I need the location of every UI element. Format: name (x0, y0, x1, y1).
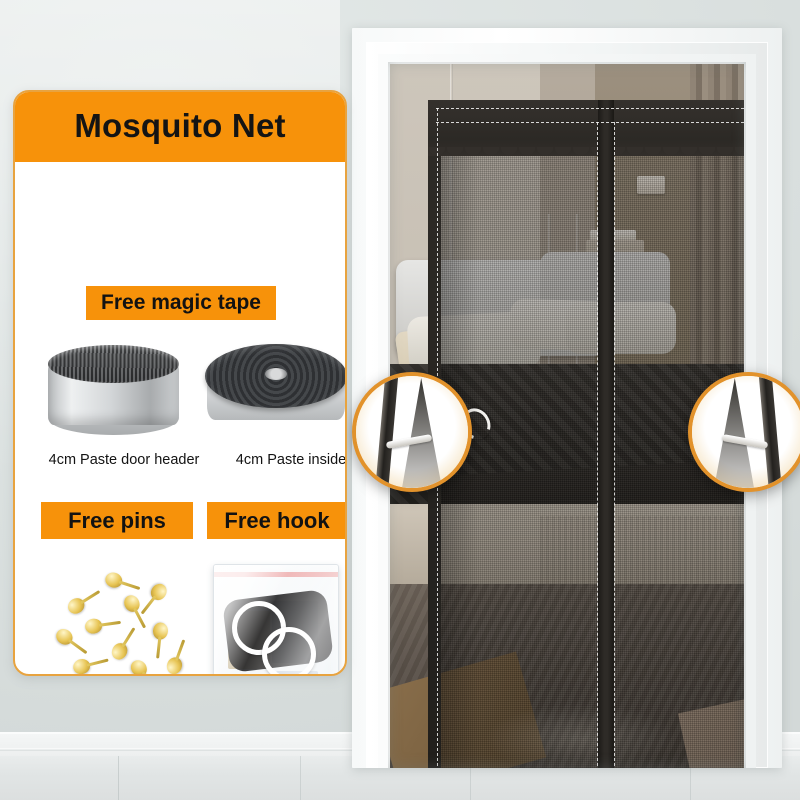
pin-shaft (141, 596, 157, 615)
pin-shaft (121, 627, 135, 647)
bag-plastic-sheen (214, 565, 338, 676)
pin-shaft (119, 580, 141, 589)
page-title: Mosquito Net (74, 107, 285, 145)
pin (55, 629, 80, 650)
pin-shaft (142, 671, 159, 676)
badge-free-hook: Free hook (207, 502, 347, 539)
product-info-card: Mosquito Net Free magic tape 4cm Paste d… (13, 90, 347, 676)
badge-free-magic-tape: Free magic tape (86, 286, 276, 320)
pin-head (121, 593, 142, 615)
caption-tape-right: 4cm Paste inside (221, 452, 347, 468)
pin (85, 620, 112, 631)
pin-shaft (87, 658, 109, 666)
pin-shaft (157, 636, 162, 658)
pin-shaft (68, 639, 87, 654)
upholstery-pins (43, 570, 203, 676)
pin-shaft (99, 621, 121, 627)
product-image: Mosquito Net Free magic tape 4cm Paste d… (0, 0, 800, 800)
caption-tape-left: 4cm Paste door header (27, 452, 221, 468)
pin-head (109, 640, 131, 662)
pin (155, 622, 165, 649)
card-header: Mosquito Net (13, 90, 347, 162)
pin (130, 660, 153, 676)
tape-roll-top-face (48, 345, 179, 383)
hook-accessory-bag (213, 564, 339, 676)
magnifier-right (688, 372, 800, 492)
pin-head (72, 657, 92, 676)
pin (112, 635, 132, 661)
pin (67, 594, 93, 614)
pin (168, 648, 183, 675)
pin-shaft (175, 639, 185, 661)
pin (145, 583, 167, 608)
pin-shaft (80, 590, 100, 604)
pin (73, 659, 100, 672)
pin-head (53, 626, 76, 648)
magic-tape-roll-hook-side (48, 339, 179, 433)
magnifier-left (352, 372, 472, 492)
pin-head (128, 657, 151, 676)
magic-tape-roll-loop-side (205, 342, 347, 434)
tape-coil-center-hole (265, 368, 287, 380)
pin (125, 594, 143, 620)
pin (105, 574, 132, 589)
badge-free-pins: Free pins (41, 502, 193, 539)
